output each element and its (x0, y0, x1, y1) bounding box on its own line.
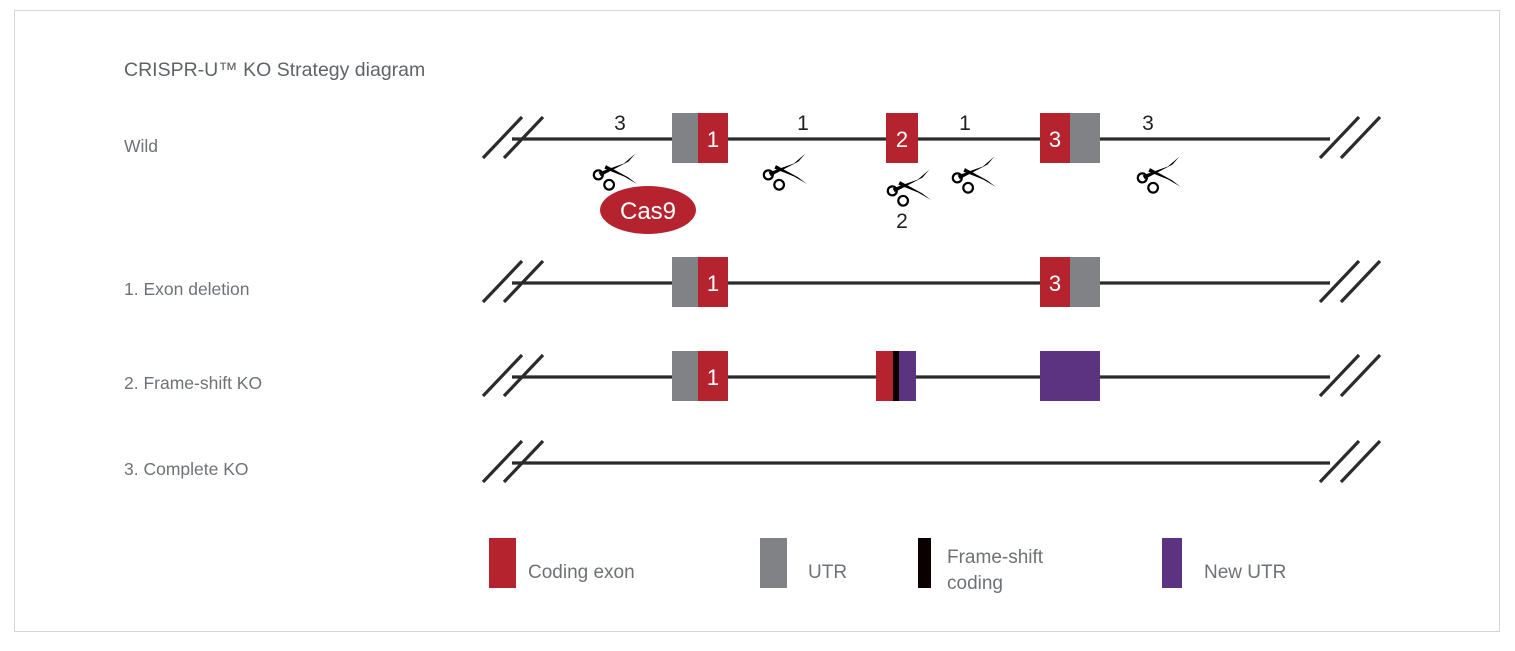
utr-segment (672, 257, 698, 307)
exon-number: 1 (707, 127, 719, 152)
row-label-complete-ko: 3. Complete KO (124, 459, 249, 479)
legend-swatch-utr (760, 538, 787, 588)
legend-item-new-utr: New UTR (1162, 538, 1286, 588)
utr-segment (1070, 113, 1100, 163)
frame-shift-coding-segment (893, 351, 899, 401)
legend-swatch-coding-exon (489, 538, 516, 588)
cut-site-3[interactable]: 2 (888, 170, 931, 233)
legend-label-coding-exon: Coding exon (528, 562, 635, 583)
coding-exon-segment (876, 351, 893, 401)
cut-site-4[interactable]: 1 (953, 112, 996, 193)
new-utr-segment (899, 351, 916, 401)
legend-swatch-frame-shift-coding (918, 538, 931, 588)
legend-item-coding-exon: Coding exon (489, 538, 635, 588)
crispr-ko-strategy-diagram: CRISPR-U™ KO Strategy diagram Wild 1. Ex… (0, 0, 1515, 651)
legend-label-frame-shift-coding-line2: coding (947, 573, 1003, 594)
scissors-icon (764, 154, 807, 190)
exon-number: 2 (896, 127, 908, 152)
exon-number: 1 (707, 365, 719, 390)
scissors-icon (1138, 157, 1181, 193)
exon-box-wild-2: 2 (886, 113, 918, 163)
legend-item-utr: UTR (760, 538, 847, 588)
exon-box-frameshift-1: 1 (672, 351, 728, 401)
legend-swatch-new-utr (1162, 538, 1182, 588)
exon-number: 3 (1049, 127, 1061, 152)
legend: Coding exon UTR Frame-shift coding New U… (489, 538, 1286, 594)
legend-label-new-utr: New UTR (1204, 562, 1286, 583)
cut-site-label: 1 (797, 112, 809, 135)
utr-segment (672, 113, 698, 163)
row-label-frame-shift-ko: 2. Frame-shift KO (124, 373, 262, 393)
cut-site-2[interactable]: 1 (764, 112, 809, 190)
diagram-page: CRISPR-U™ KO Strategy diagram Wild 1. Ex… (0, 0, 1515, 651)
scissors-icon (953, 157, 996, 193)
utr-segment (1070, 257, 1100, 307)
row-complete-ko (483, 441, 1380, 482)
exon-box-wild-3: 3 (1040, 113, 1100, 163)
cut-site-label: 2 (896, 210, 908, 233)
cas9-label: Cas9 (620, 198, 676, 225)
cut-site-1[interactable]: 3 (594, 112, 637, 190)
new-utr-box (1040, 351, 1100, 401)
row-frame-shift-ko: 1 (483, 351, 1380, 401)
exon-box-deletion-3: 3 (1040, 257, 1100, 307)
row-label-wild: Wild (124, 136, 158, 156)
exon-number: 1 (707, 271, 719, 296)
exon-number: 3 (1049, 271, 1061, 296)
cut-site-label: 3 (614, 112, 626, 135)
exon-box-wild-1: 1 (672, 113, 728, 163)
row-label-exon-deletion: 1. Exon deletion (124, 279, 250, 299)
cas9-badge: Cas9 (600, 186, 696, 234)
scissors-icon (594, 154, 637, 190)
legend-label-utr: UTR (808, 562, 847, 583)
exon-box-deletion-1: 1 (672, 257, 728, 307)
row-wild: 1 2 3 3 (483, 112, 1380, 234)
cut-site-5[interactable]: 3 (1138, 112, 1181, 193)
legend-label-frame-shift-coding-line1: Frame-shift (947, 547, 1044, 568)
cut-site-label: 3 (1142, 112, 1154, 135)
row-exon-deletion: 1 3 (483, 257, 1380, 307)
frameshift-composite-box (876, 351, 916, 401)
cut-site-label: 1 (959, 112, 971, 135)
utr-segment (672, 351, 698, 401)
legend-item-frame-shift-coding: Frame-shift coding (918, 538, 1044, 594)
page-title: CRISPR-U™ KO Strategy diagram (124, 59, 425, 81)
scissors-icon (888, 170, 931, 206)
